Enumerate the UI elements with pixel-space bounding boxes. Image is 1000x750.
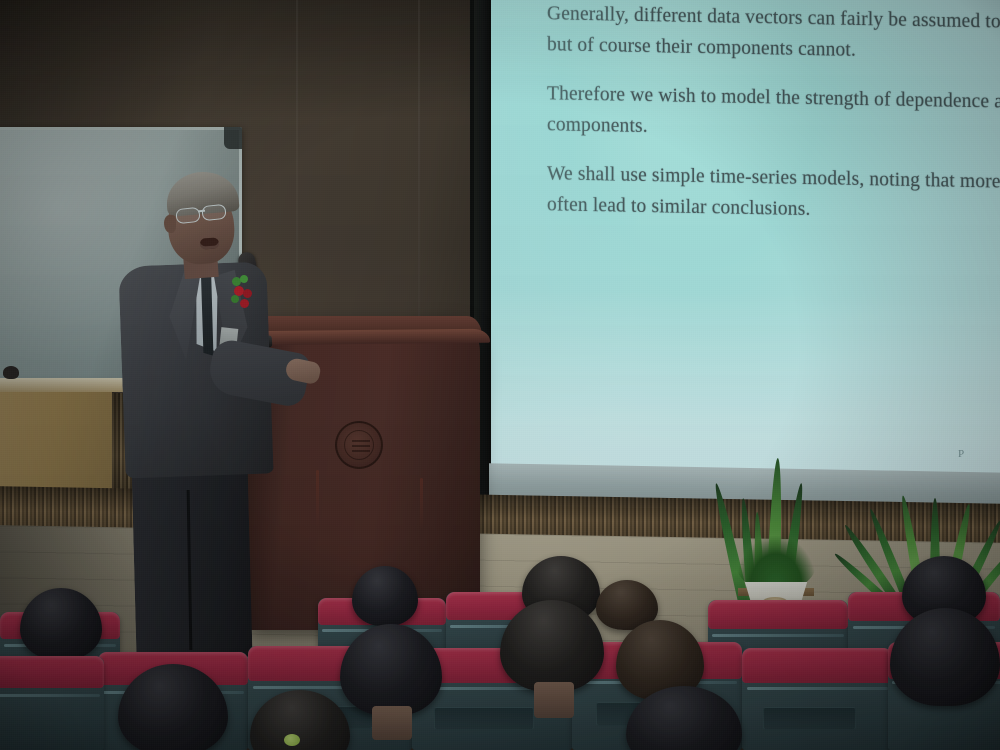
slide-paragraph-1: Generally, different data vectors can fa… <box>547 0 1000 70</box>
table-object <box>3 366 19 379</box>
seat-stripe <box>712 634 844 637</box>
audience-head <box>352 566 418 626</box>
audience-neck <box>534 682 574 718</box>
audience-neck <box>372 706 412 740</box>
seat-stripe <box>0 694 100 697</box>
whiteboard-corner-bracket <box>224 127 242 149</box>
auditorium-seat <box>742 648 892 750</box>
slide-paragraph-3: We shall use simple time-series models, … <box>547 158 1000 230</box>
auditorium-seat <box>0 656 104 750</box>
presenter-ear <box>164 215 176 233</box>
presenter-mouth <box>200 237 220 249</box>
seat-stripe <box>747 687 888 690</box>
seat-cushion <box>742 648 892 683</box>
hair-clip <box>284 734 300 746</box>
podium-scuff <box>420 478 423 530</box>
slide-text-block: Generally, different data vectors can fa… <box>547 0 1000 248</box>
presenter <box>110 160 310 630</box>
seat-tray-table <box>763 707 856 729</box>
presenter-boutonniere <box>230 275 256 315</box>
slide-paragraph-2: Therefore we wish to model the strength … <box>547 78 1000 150</box>
seat-tray-table <box>434 707 533 729</box>
seat-cushion <box>708 600 848 629</box>
wall-upper-shadow <box>0 0 500 120</box>
side-table-top <box>0 378 124 392</box>
lecture-hall-photo: Generally, different data vectors can fa… <box>0 0 1000 750</box>
snake-plant-left <box>722 392 832 610</box>
podium-seal-emblem <box>335 421 383 469</box>
seat-cushion <box>0 656 104 688</box>
podium-scuff <box>316 470 319 530</box>
